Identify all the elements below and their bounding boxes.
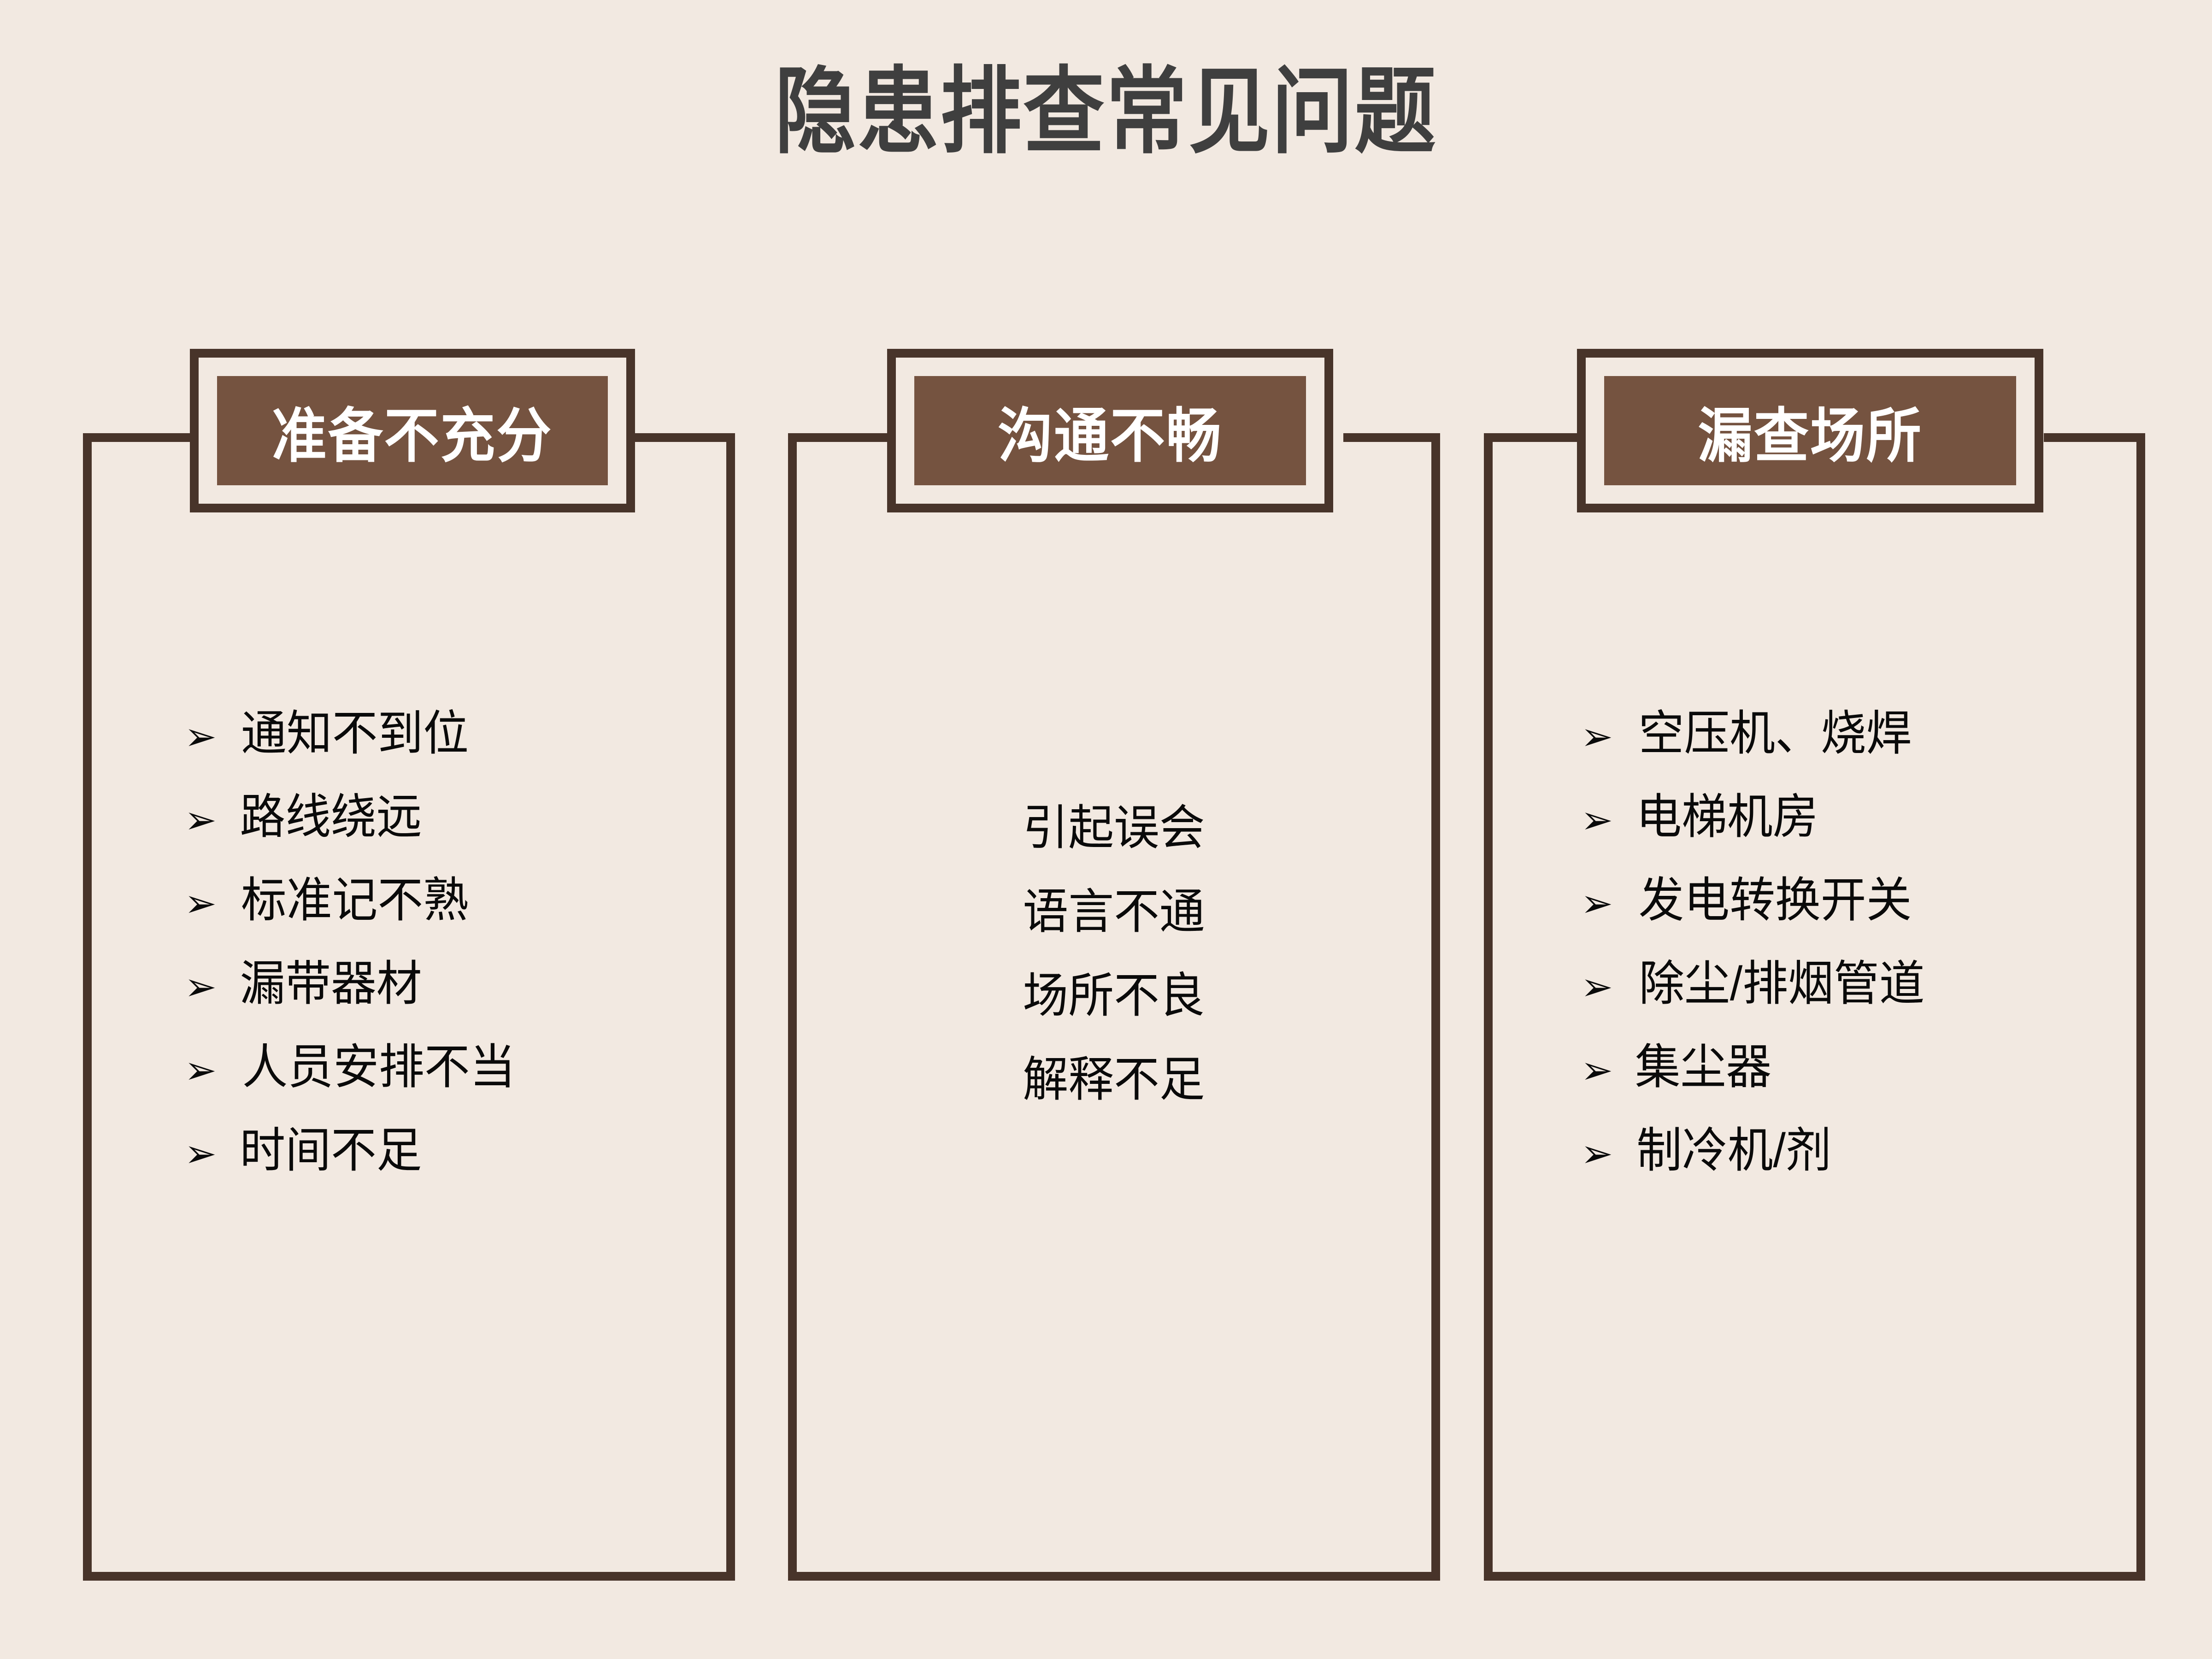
list-item-label: 路线绕远 — [240, 793, 422, 841]
list-item-label: 通知不到位 — [241, 710, 469, 758]
arrow-bullet-icon: ➢ — [184, 967, 217, 1006]
column-1-header-label: 准备不充分 — [272, 388, 553, 473]
list-item[interactable]: 语言不通 — [800, 888, 1429, 936]
column-2-header-fill: 沟通不畅 — [914, 376, 1306, 485]
list-item-label: 集尘器 — [1635, 1043, 1771, 1091]
list-item[interactable]: ➢ 通知不到位 — [184, 710, 719, 758]
column-1-item-list: ➢ 通知不到位 ➢ 路线绕远 ➢ 标准记不熟 ➢ 漏带器材 ➢ 人员安排不当 ➢… — [184, 710, 719, 1210]
column-3-item-list: ➢ 空压机、烧焊 ➢ 电梯机房 ➢ 发电转换开关 ➢ 除尘/排烟管道 ➢ 集尘器… — [1581, 710, 2134, 1210]
arrow-bullet-icon: ➢ — [184, 800, 217, 839]
list-item[interactable]: ➢ 制冷机/剂 — [1581, 1127, 2134, 1175]
arrow-bullet-icon: ➢ — [1581, 717, 1613, 756]
column-2-header[interactable]: 沟通不畅 — [887, 349, 1333, 512]
list-item-label: 空压机、烧焊 — [1639, 710, 1912, 758]
list-item[interactable]: ➢ 集尘器 — [1581, 1043, 2134, 1091]
list-item[interactable]: 引起误会 — [800, 804, 1429, 852]
arrow-bullet-icon: ➢ — [1581, 1051, 1613, 1089]
list-item[interactable]: 解释不足 — [800, 1056, 1429, 1104]
list-item-label: 语言不通 — [1023, 888, 1205, 936]
list-item-label: 人员安排不当 — [242, 1043, 516, 1091]
list-item-label: 场所不良 — [1023, 972, 1205, 1020]
arrow-bullet-icon: ➢ — [1581, 884, 1613, 923]
list-item-label: 电梯机房 — [1636, 793, 1818, 841]
list-item[interactable]: ➢ 漏带器材 — [184, 960, 719, 1008]
column-3-header[interactable]: 漏查场所 — [1577, 349, 2043, 512]
list-item[interactable]: ➢ 除尘/排烟管道 — [1581, 960, 2134, 1008]
arrow-bullet-icon: ➢ — [1581, 800, 1613, 839]
list-item[interactable]: 场所不良 — [800, 972, 1429, 1020]
list-item[interactable]: ➢ 发电转换开关 — [1581, 877, 2134, 924]
arrow-bullet-icon: ➢ — [184, 717, 217, 756]
list-item[interactable]: ➢ 时间不足 — [184, 1127, 719, 1175]
list-item-label: 标准记不熟 — [241, 877, 469, 924]
list-item[interactable]: ➢ 空压机、烧焊 — [1581, 710, 2134, 758]
list-item[interactable]: ➢ 路线绕远 — [184, 793, 719, 841]
list-item-label: 除尘/排烟管道 — [1639, 960, 1925, 1008]
arrow-bullet-icon: ➢ — [184, 1134, 217, 1173]
list-item[interactable]: ➢ 电梯机房 — [1581, 793, 2134, 841]
column-1-header[interactable]: 准备不充分 — [190, 349, 635, 512]
column-2-item-list: 引起误会 语言不通 场所不良 解释不足 — [800, 804, 1429, 1140]
arrow-bullet-icon: ➢ — [184, 884, 217, 923]
column-3-header-label: 漏查场所 — [1698, 388, 1922, 473]
list-item-label: 漏带器材 — [240, 960, 422, 1008]
list-item-label: 发电转换开关 — [1639, 877, 1912, 924]
list-item-label: 制冷机/剂 — [1637, 1127, 1832, 1175]
column-3-header-fill: 漏查场所 — [1604, 376, 2016, 485]
arrow-bullet-icon: ➢ — [1581, 1134, 1613, 1173]
list-item[interactable]: ➢ 标准记不熟 — [184, 877, 719, 924]
column-2-header-label: 沟通不畅 — [998, 388, 1222, 473]
column-1-header-fill: 准备不充分 — [217, 376, 608, 485]
arrow-bullet-icon: ➢ — [184, 1051, 217, 1089]
list-item-label: 时间不足 — [240, 1127, 422, 1175]
page-title: 隐患排查常见问题 — [155, 60, 2057, 164]
list-item-label: 引起误会 — [1023, 804, 1205, 852]
list-item[interactable]: ➢ 人员安排不当 — [184, 1043, 719, 1091]
list-item-label: 解释不足 — [1023, 1056, 1205, 1104]
arrow-bullet-icon: ➢ — [1581, 967, 1613, 1006]
